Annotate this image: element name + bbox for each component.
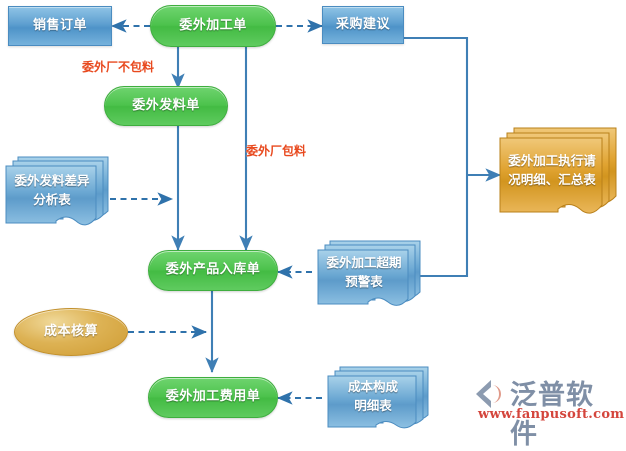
document-stack-icon bbox=[498, 126, 618, 222]
flowchart-canvas: 销售订单 委外加工单 采购建议 委外发料单 委外产品入库单 委外加工费用单 成本… bbox=[0, 0, 626, 435]
watermark-url: www.fanpusoft.com bbox=[478, 407, 624, 422]
node-processing-fee[interactable]: 委外加工费用单 bbox=[148, 377, 278, 418]
report-cost-composition[interactable]: 成本构成 明细表 bbox=[326, 365, 430, 433]
fanpu-logo-icon bbox=[472, 377, 512, 411]
node-material-issue-label: 委外发料单 bbox=[132, 97, 200, 116]
node-sales-order[interactable]: 销售订单 bbox=[8, 6, 112, 46]
node-purchase-advice-label: 采购建议 bbox=[336, 16, 390, 35]
document-stack-icon bbox=[326, 365, 430, 433]
document-stack-icon bbox=[4, 155, 110, 231]
node-purchase-advice[interactable]: 采购建议 bbox=[322, 6, 404, 44]
node-cost-accounting-label: 成本核算 bbox=[44, 323, 98, 342]
node-outsourcing-order-label: 委外加工单 bbox=[179, 17, 247, 36]
node-processing-fee-label: 委外加工费用单 bbox=[166, 388, 261, 407]
annotation-no-material: 委外厂不包料 bbox=[82, 58, 154, 75]
node-product-receipt-label: 委外产品入库单 bbox=[166, 261, 261, 280]
node-sales-order-label: 销售订单 bbox=[33, 17, 87, 36]
node-outsourcing-order[interactable]: 委外加工单 bbox=[150, 5, 276, 47]
node-cost-accounting[interactable]: 成本核算 bbox=[14, 308, 128, 356]
node-product-receipt[interactable]: 委外产品入库单 bbox=[148, 250, 278, 291]
report-execution-detail[interactable]: 委外加工执行请 况明细、汇总表 bbox=[498, 126, 618, 222]
document-stack-icon bbox=[316, 239, 422, 311]
report-issue-variance[interactable]: 委外发料差异 分析表 bbox=[4, 155, 110, 231]
watermark-logo: 泛普软件 www.fanpusoft.com bbox=[472, 373, 618, 429]
report-overdue-warning[interactable]: 委外加工超期 预警表 bbox=[316, 239, 422, 311]
annotation-with-material: 委外厂包料 bbox=[246, 142, 306, 159]
node-material-issue[interactable]: 委外发料单 bbox=[104, 86, 228, 126]
